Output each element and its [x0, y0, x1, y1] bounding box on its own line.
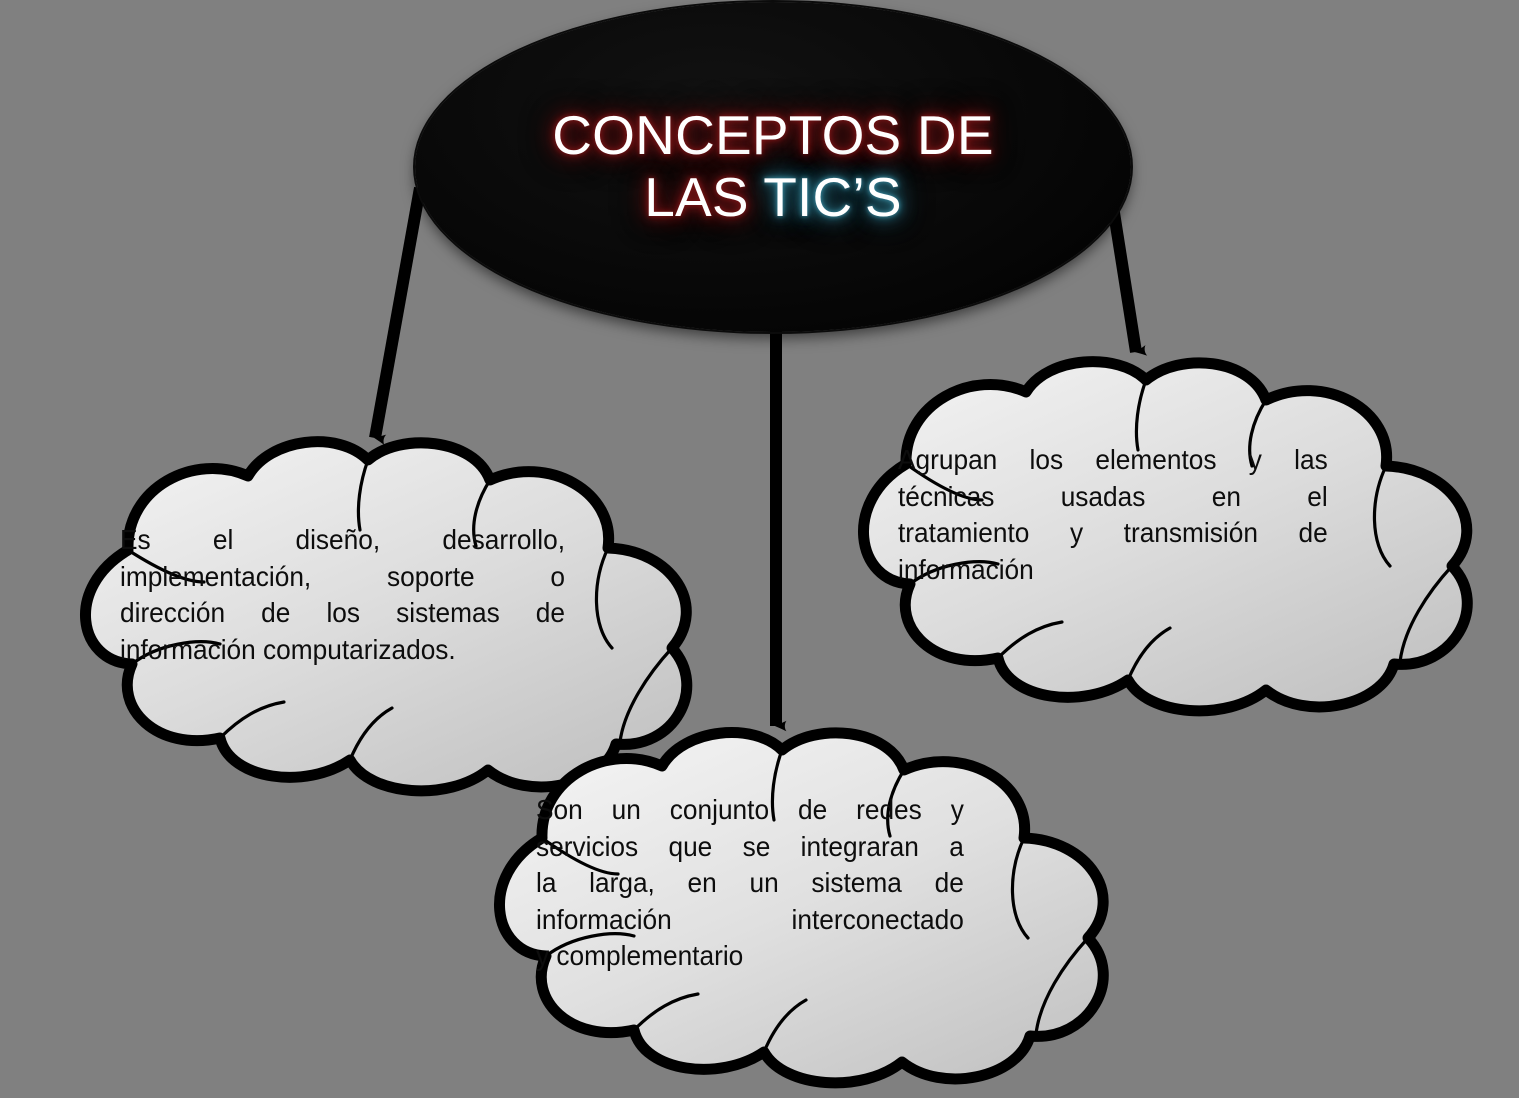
- concept-cloud-bottom[interactable]: Sonunconjuntoderedesy serviciosqueseinte…: [418, 722, 1163, 1096]
- title-line-1: CONCEPTOS DE: [552, 105, 993, 167]
- title-line-2-part-2: TIC’S: [763, 166, 902, 228]
- arrow-to-right-cloud: [1112, 200, 1136, 352]
- title-line-2-part-1: LAS: [644, 166, 763, 228]
- central-ellipse[interactable]: CONCEPTOS DE LAS TIC’S: [415, 2, 1131, 332]
- cloud-right-line-2: técnicasusadasenel: [898, 479, 1328, 516]
- cloud-bottom-line-4: informacióninterconectado: [536, 902, 964, 939]
- cloud-bottom-text: Sonunconjuntoderedesy serviciosqueseinte…: [536, 792, 964, 975]
- concept-cloud-right[interactable]: Agrupanloselementosylas técnicasusadasen…: [790, 352, 1515, 724]
- cloud-bottom-line-5: y complementario: [536, 938, 964, 975]
- cloud-left-text: Eseldiseño,desarrollo, implementación,so…: [120, 522, 565, 668]
- cloud-left-line-3: direccióndelossistemasde: [120, 595, 565, 632]
- title-line-2: LAS TIC’S: [644, 167, 902, 229]
- cloud-right-text: Agrupanloselementosylas técnicasusadasen…: [898, 442, 1328, 588]
- cloud-left-line-4: información computarizados.: [120, 632, 565, 669]
- cloud-bottom-line-2: serviciosqueseintegrarana: [536, 829, 964, 866]
- cloud-left-line-2: implementación,soporteo: [120, 559, 565, 596]
- cloud-bottom-line-1: Sonunconjuntoderedesy: [536, 792, 964, 829]
- diagram-canvas: CONCEPTOS DE LAS TIC’S: [0, 0, 1519, 1098]
- cloud-right-line-3: tratamientoytransmisiónde: [898, 515, 1328, 552]
- cloud-bottom-line-3: lalarga,enunsistemade: [536, 865, 964, 902]
- cloud-right-line-1: Agrupanloselementosylas: [898, 442, 1328, 479]
- cloud-right-line-4: información: [898, 552, 1328, 589]
- arrow-to-left-cloud: [375, 188, 420, 438]
- cloud-left-line-1: Eseldiseño,desarrollo,: [120, 522, 565, 559]
